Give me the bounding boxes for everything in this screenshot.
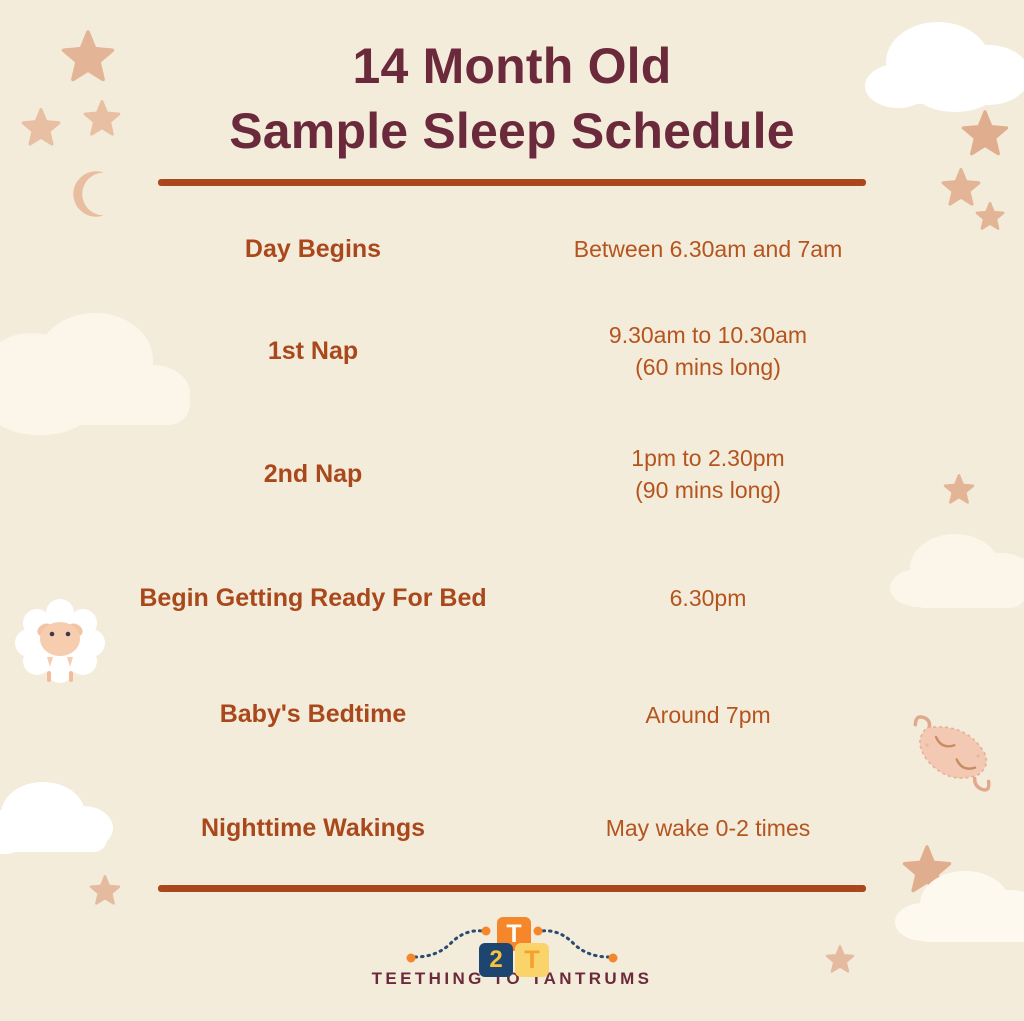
schedule-value: 1pm to 2.30pm (90 mins long) [508, 409, 908, 539]
schedule-label: Baby's Bedtime [118, 657, 508, 772]
schedule-label: 1st Nap [118, 293, 508, 409]
logo-block-right: T [515, 943, 549, 977]
schedule-label: Begin Getting Ready For Bed [118, 539, 508, 657]
divider-top [158, 179, 866, 186]
poster-content: 14 Month Old Sample Sleep Schedule Day B… [0, 0, 1024, 1021]
title-line-2: Sample Sleep Schedule [0, 99, 1024, 164]
schedule-value-main: 9.30am to 10.30am [609, 322, 807, 348]
schedule-label: Day Begins [118, 205, 508, 293]
table-row: 1st Nap 9.30am to 10.30am (60 mins long) [118, 293, 908, 409]
schedule-value-main: 1pm to 2.30pm [631, 445, 784, 471]
table-row: Day Begins Between 6.30am and 7am [118, 205, 908, 293]
schedule-value: Between 6.30am and 7am [508, 205, 908, 293]
schedule-value: 9.30am to 10.30am (60 mins long) [508, 293, 908, 409]
logo-block-left: 2 [479, 943, 513, 977]
schedule-value-main: Around 7pm [645, 702, 770, 728]
footer-branding: T 2 T TEETHING TO TANTRUMS [0, 915, 1024, 989]
table-row: Begin Getting Ready For Bed 6.30pm [118, 539, 908, 657]
schedule-value-main: 6.30pm [670, 585, 747, 611]
schedule-table: Day Begins Between 6.30am and 7am 1st Na… [118, 205, 908, 884]
schedule-value-sub: (90 mins long) [508, 474, 908, 506]
schedule-value: 6.30pm [508, 539, 908, 657]
schedule-label: Nighttime Wakings [118, 772, 508, 884]
schedule-value: May wake 0-2 times [508, 772, 908, 884]
schedule-value-sub: (60 mins long) [508, 351, 908, 383]
divider-bottom [158, 885, 866, 892]
schedule-value: Around 7pm [508, 657, 908, 772]
schedule-value-main: May wake 0-2 times [606, 815, 811, 841]
logo-mark: T 2 T [367, 915, 657, 967]
schedule-label: 2nd Nap [118, 409, 508, 539]
table-row: Nighttime Wakings May wake 0-2 times [118, 772, 908, 884]
title-line-1: 14 Month Old [0, 34, 1024, 99]
schedule-value-main: Between 6.30am and 7am [574, 236, 843, 262]
sleep-schedule-poster: 14 Month Old Sample Sleep Schedule Day B… [0, 0, 1024, 1021]
table-row: 2nd Nap 1pm to 2.30pm (90 mins long) [118, 409, 908, 539]
table-row: Baby's Bedtime Around 7pm [118, 657, 908, 772]
page-title: 14 Month Old Sample Sleep Schedule [0, 34, 1024, 164]
